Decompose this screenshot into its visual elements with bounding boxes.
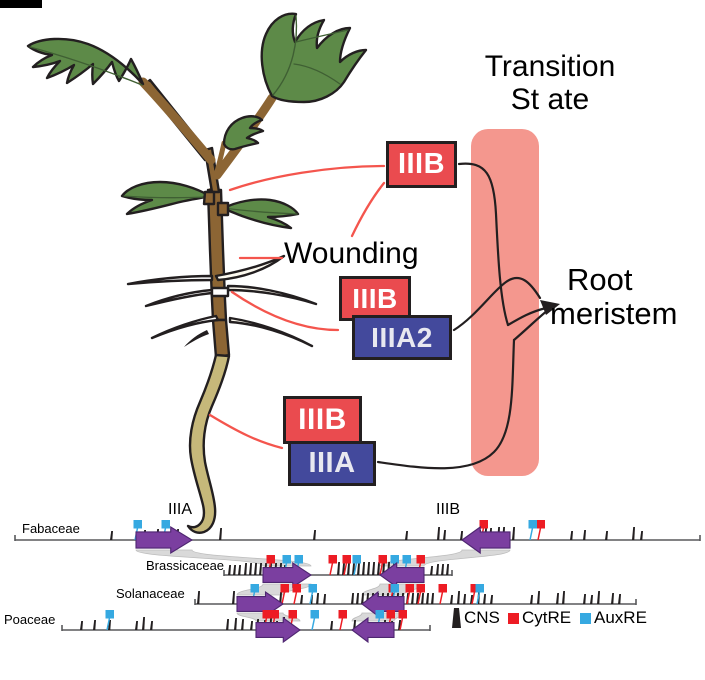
legend-cytre-swatch: [508, 613, 519, 624]
gene-box-bottom-IIIB[interactable]: IIIB: [283, 396, 362, 444]
figure-root: Transition St ate Wounding Root meristem…: [0, 0, 705, 680]
legend-auxre-label: AuxRE: [594, 608, 647, 628]
gene-box-mid-IIIA2[interactable]: IIIA2: [352, 315, 452, 360]
legend-cytre-label: CytRE: [522, 608, 571, 628]
legend-cns-label: CNS: [464, 608, 500, 628]
gene-box-bottom-IIIA[interactable]: IIIA: [288, 441, 376, 486]
legend-auxre-swatch: [580, 613, 591, 624]
